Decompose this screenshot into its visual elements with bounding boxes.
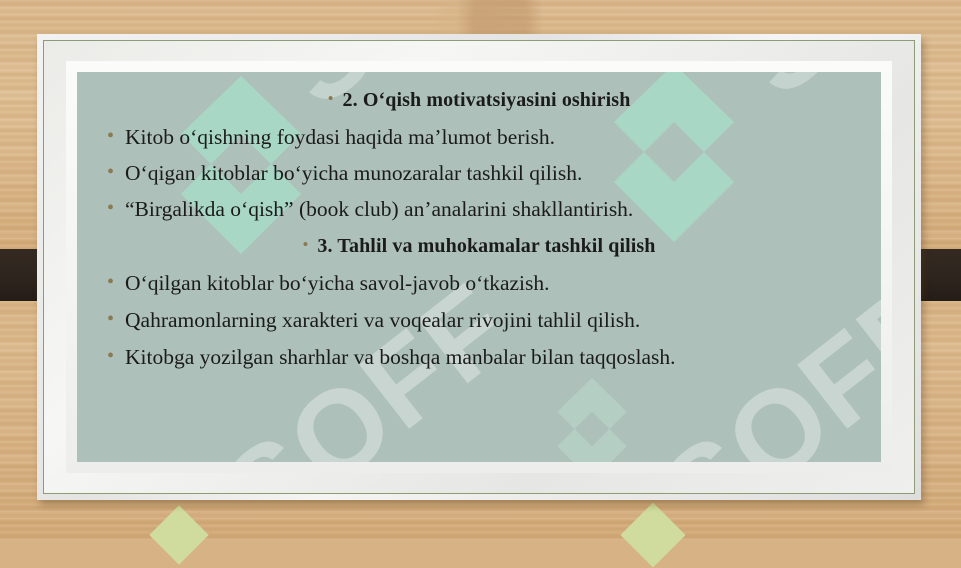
slide-heading-text: 2. O‘qish motivatsiyasini oshirish (343, 86, 631, 114)
slide-content: • 2. O‘qish motivatsiyasini oshirish • K… (77, 72, 881, 371)
slide-heading-item: • 2. O‘qish motivatsiyasini oshirish (103, 86, 855, 114)
slide-bullet-text: O‘qigan kitoblar bo‘yicha munozaralar ta… (125, 159, 582, 187)
bullet-icon: • (302, 232, 308, 258)
frame-mat: SOFF SOFF SOFF SOFF • 2. O‘qish motivats… (66, 61, 892, 473)
bullet-icon: • (328, 86, 334, 112)
soff-chevron-logo-icon (547, 378, 637, 462)
slide-bullet-item: • O‘qilgan kitoblar bo‘yicha savol-javob… (107, 269, 855, 297)
slide-bullet-text: “Birgalikda o‘qish” (book club) an’anala… (125, 195, 633, 223)
slide-bullet-text: O‘qilgan kitoblar bo‘yicha savol-javob o… (125, 269, 550, 297)
picture-frame: SOFF SOFF SOFF SOFF • 2. O‘qish motivats… (37, 34, 921, 500)
slide-heading-text: 3. Tahlil va muhokamalar tashkil qilish (317, 232, 655, 260)
bullet-icon: • (107, 269, 114, 295)
slide-bullet-item: • Qahramonlarning xarakteri va voqealar … (107, 306, 855, 334)
slide-bullet-item: • Kitobga yozilgan sharhlar va boshqa ma… (107, 343, 855, 371)
slide-bullet-item: • Kitob o‘qishning foydasi haqida ma’lum… (107, 123, 855, 151)
slide-heading-item: • 3. Tahlil va muhokamalar tashkil qilis… (103, 232, 855, 260)
bullet-icon: • (107, 195, 114, 221)
bullet-icon: • (107, 343, 114, 369)
frame-inner-bevel: SOFF SOFF SOFF SOFF • 2. O‘qish motivats… (43, 40, 915, 494)
slide-bullet-text: Kitob o‘qishning foydasi haqida ma’lumot… (125, 123, 555, 151)
slide-panel: SOFF SOFF SOFF SOFF • 2. O‘qish motivats… (77, 72, 881, 462)
bullet-icon: • (107, 159, 114, 185)
slide-bullet-text: Kitobga yozilgan sharhlar va boshqa manb… (125, 343, 676, 371)
slide-bullet-item: • O‘qigan kitoblar bo‘yicha munozaralar … (107, 159, 855, 187)
bullet-icon: • (107, 306, 114, 332)
bullet-icon: • (107, 123, 114, 149)
slide-bullet-item: • “Birgalikda o‘qish” (book club) an’ana… (107, 195, 855, 223)
slide-bullet-text: Qahramonlarning xarakteri va voqealar ri… (125, 306, 640, 334)
